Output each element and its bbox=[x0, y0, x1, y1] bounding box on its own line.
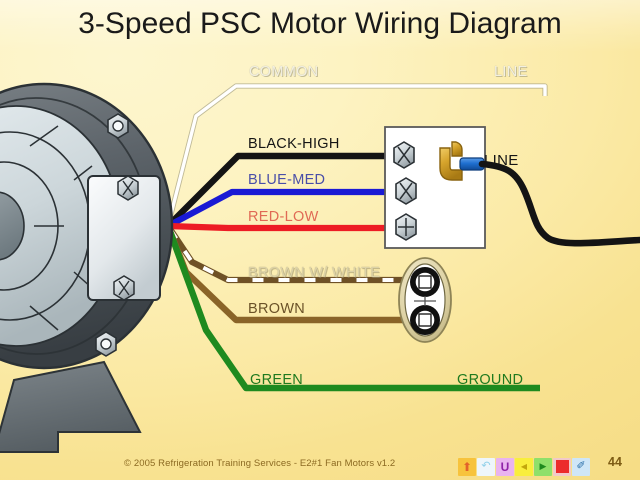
hex-bolt-top bbox=[108, 114, 128, 138]
back-arrow-icon[interactable]: ↶ bbox=[477, 458, 495, 476]
stop-icon[interactable] bbox=[553, 458, 571, 476]
label-brown: BROWN bbox=[248, 301, 305, 317]
terminal-screw-3 bbox=[396, 214, 416, 240]
slide-navigation-bar[interactable]: ⬆ ↶ U ◀ ▶ ✐ bbox=[458, 457, 590, 476]
hex-bolt-bottom bbox=[96, 332, 116, 356]
label-green: GREEN bbox=[250, 372, 303, 388]
label-black-high: BLACK-HIGH bbox=[248, 136, 340, 152]
copyright-footer: © 2005 Refrigeration Training Services -… bbox=[124, 458, 395, 469]
terminal-screw-2 bbox=[396, 178, 416, 204]
motor-junction-box-plate bbox=[88, 176, 160, 300]
capacitor-terminal-upper bbox=[410, 267, 440, 297]
play-icon[interactable]: ▶ bbox=[534, 458, 552, 476]
terminal-screw-1 bbox=[394, 142, 414, 168]
label-line-terminal: LINE bbox=[484, 152, 519, 169]
capacitor-terminal-lower bbox=[410, 305, 440, 335]
label-ground: GROUND bbox=[457, 372, 523, 388]
stop-square bbox=[556, 460, 569, 473]
label-common: COMMON bbox=[249, 64, 318, 80]
previous-icon[interactable]: ◀ bbox=[515, 458, 533, 476]
u-turn-icon[interactable]: U bbox=[496, 458, 514, 476]
label-brown-w-white: BROWN W/ WHITE bbox=[248, 265, 380, 281]
wiring-diagram-artwork bbox=[0, 0, 640, 480]
label-red-low: RED-LOW bbox=[248, 209, 319, 225]
terminal-block bbox=[385, 127, 485, 248]
label-blue-med: BLUE-MED bbox=[248, 172, 325, 188]
slide-canvas: 3-Speed PSC Motor Wiring Diagram bbox=[0, 0, 640, 480]
wire-red-low bbox=[168, 226, 400, 228]
home-icon[interactable]: ⬆ bbox=[458, 458, 476, 476]
two-terminal-capacitor-connector bbox=[399, 258, 451, 342]
wire-bundle bbox=[168, 86, 545, 388]
line-supply-cord bbox=[482, 164, 640, 243]
pen-cursor-icon[interactable]: ✐ bbox=[572, 458, 590, 476]
plate-screw-bottom bbox=[114, 276, 134, 300]
label-line-top: LINE bbox=[494, 64, 527, 80]
psc-motor bbox=[0, 84, 172, 452]
motor-mounting-foot bbox=[0, 362, 140, 452]
plate-screw-top bbox=[118, 176, 138, 200]
page-number: 44 bbox=[608, 455, 622, 469]
